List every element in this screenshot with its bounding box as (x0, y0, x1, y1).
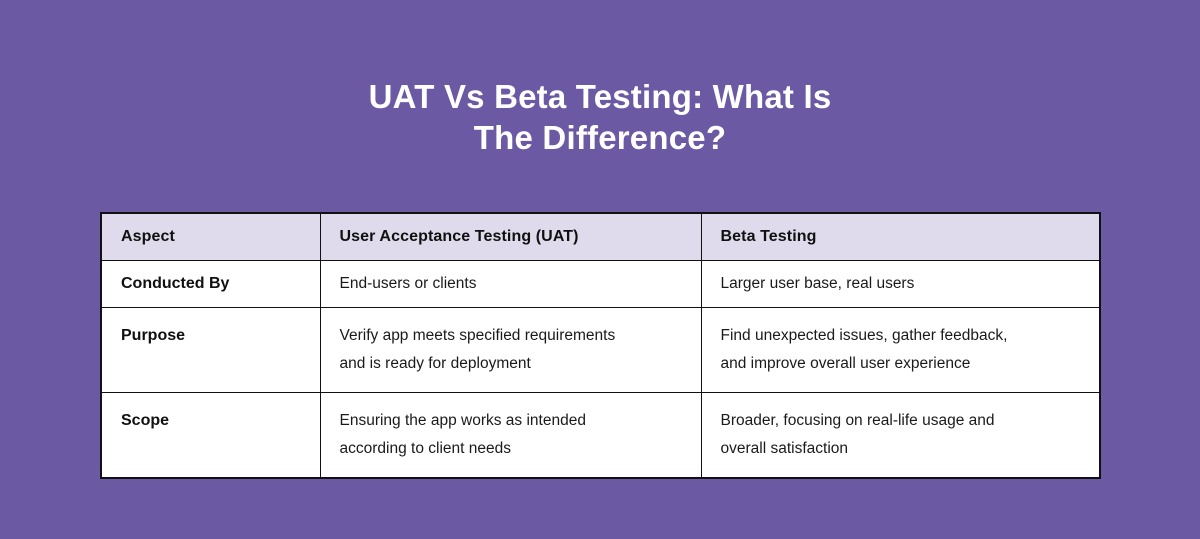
comparison-table: Aspect User Acceptance Testing (UAT) Bet… (100, 212, 1101, 479)
cell-beta-line-2: overall satisfaction (721, 435, 1081, 463)
cell-uat: Ensuring the app works as intended accor… (320, 392, 701, 478)
column-header-beta: Beta Testing (701, 213, 1100, 260)
table-row: Purpose Verify app meets specified requi… (101, 307, 1100, 392)
table-row: Conducted By End-users or clients Larger… (101, 260, 1100, 307)
cell-beta-line-1: Larger user base, real users (721, 270, 1081, 298)
slide-canvas: UAT Vs Beta Testing: What Is The Differe… (0, 0, 1200, 539)
comparison-table-container: Aspect User Acceptance Testing (UAT) Bet… (100, 212, 1099, 479)
cell-uat: Verify app meets specified requirements … (320, 307, 701, 392)
table-body: Conducted By End-users or clients Larger… (101, 260, 1100, 478)
cell-aspect: Scope (101, 392, 320, 478)
cell-uat: End-users or clients (320, 260, 701, 307)
page-title: UAT Vs Beta Testing: What Is The Differe… (0, 76, 1200, 158)
cell-beta: Find unexpected issues, gather feedback,… (701, 307, 1100, 392)
cell-beta-line-1: Broader, focusing on real-life usage and (721, 407, 1081, 435)
column-header-aspect: Aspect (101, 213, 320, 260)
table-row: Scope Ensuring the app works as intended… (101, 392, 1100, 478)
cell-uat-line-2: according to client needs (340, 435, 682, 463)
cell-uat-line-1: Ensuring the app works as intended (340, 407, 682, 435)
cell-beta-line-2: and improve overall user experience (721, 350, 1081, 378)
table-header-row: Aspect User Acceptance Testing (UAT) Bet… (101, 213, 1100, 260)
page-title-line-1: UAT Vs Beta Testing: What Is (369, 78, 832, 115)
cell-beta-line-1: Find unexpected issues, gather feedback, (721, 322, 1081, 350)
column-header-uat: User Acceptance Testing (UAT) (320, 213, 701, 260)
page-title-line-2: The Difference? (474, 119, 726, 156)
cell-aspect: Purpose (101, 307, 320, 392)
cell-beta: Larger user base, real users (701, 260, 1100, 307)
table-header: Aspect User Acceptance Testing (UAT) Bet… (101, 213, 1100, 260)
cell-uat-line-1: Verify app meets specified requirements (340, 322, 682, 350)
cell-uat-line-2: and is ready for deployment (340, 350, 682, 378)
cell-uat-line-1: End-users or clients (340, 270, 682, 298)
cell-aspect: Conducted By (101, 260, 320, 307)
cell-beta: Broader, focusing on real-life usage and… (701, 392, 1100, 478)
